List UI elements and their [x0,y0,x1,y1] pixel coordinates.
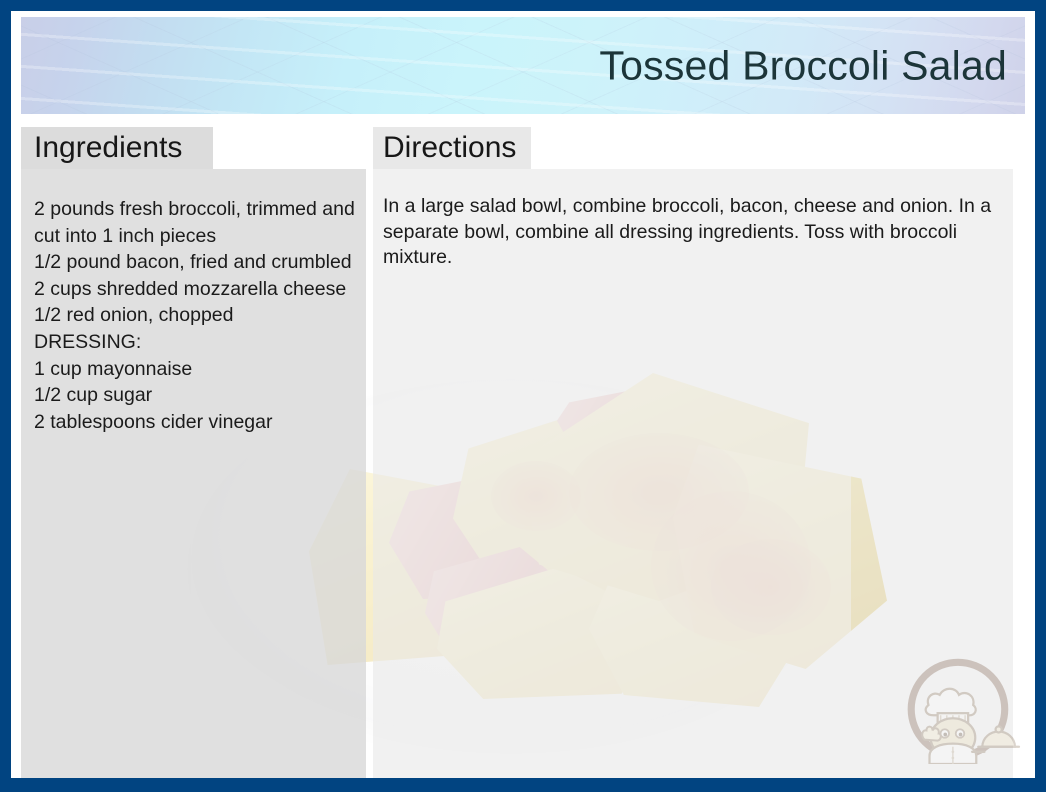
ingredient-item: 2 tablespoons cider vinegar [34,409,362,436]
title-banner: Tossed Broccoli Salad [21,17,1025,114]
directions-heading: Directions [383,131,516,165]
ingredient-item: 2 pounds fresh broccoli, trimmed and cut… [34,196,362,249]
ingredient-item: 1 cup mayonnaise [34,356,362,383]
ingredients-panel: 2 pounds fresh broccoli, trimmed and cut… [21,169,366,778]
chef-logo-icon [899,642,1021,764]
ingredients-tab: Ingredients [21,127,213,169]
ingredient-item: 1/2 cup sugar [34,382,362,409]
ingredient-item: 1/2 red onion, chopped [34,302,362,329]
ingredient-item: 2 cups shredded mozzarella cheese [34,276,362,303]
ingredient-item: 1/2 pound bacon, fried and crumbled [34,249,362,276]
slide-canvas: Tossed Broccoli Salad Ingredients [11,11,1035,778]
ingredients-heading: Ingredients [34,131,182,165]
ingredients-list: 2 pounds fresh broccoli, trimmed and cut… [34,196,362,435]
directions-text: In a large salad bowl, combine broccoli,… [383,194,1007,271]
slide-frame: Tossed Broccoli Salad Ingredients [0,0,1046,792]
directions-tab: Directions [373,127,531,169]
page-title: Tossed Broccoli Salad [599,42,1007,89]
ingredient-item: DRESSING: [34,329,362,356]
